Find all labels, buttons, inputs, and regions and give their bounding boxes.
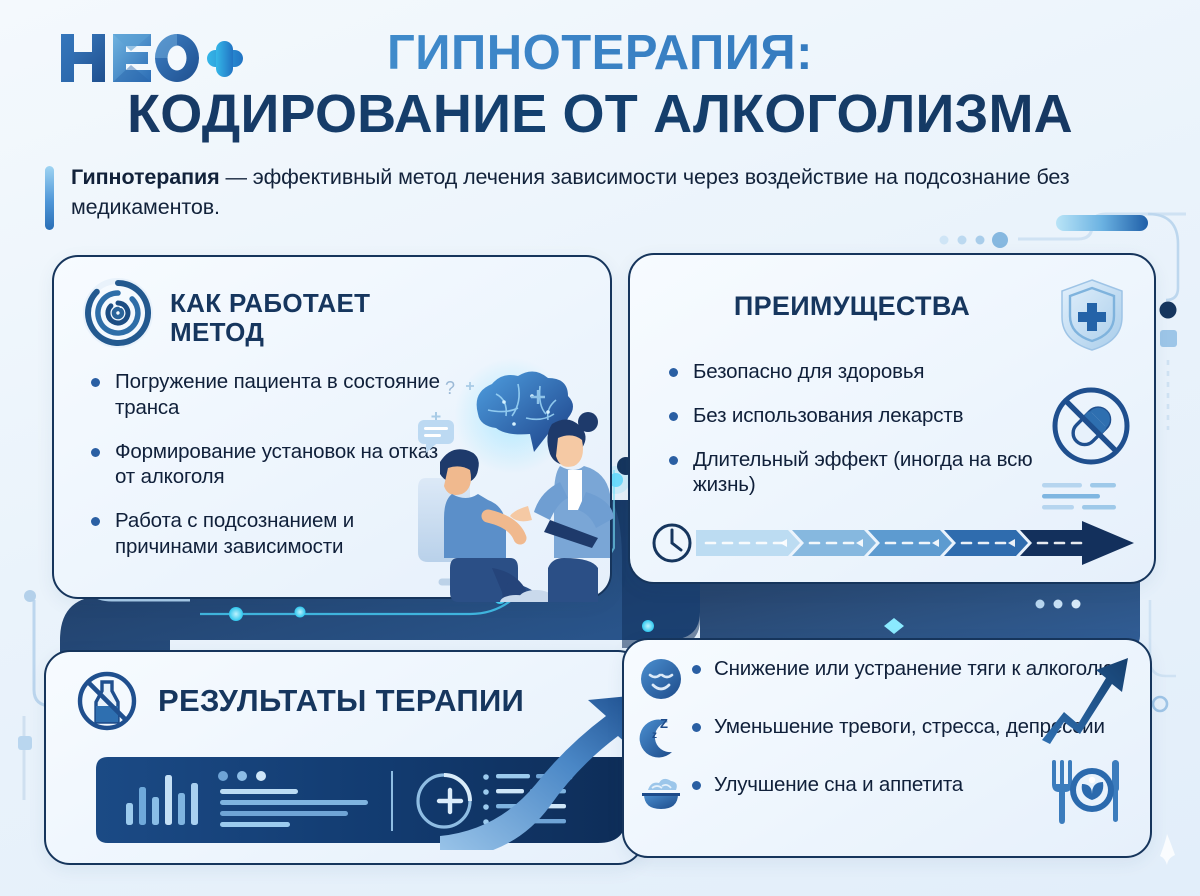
list-item: Безопасно для здоровья xyxy=(666,359,1036,385)
benefit-text: Улучшение сна и аппетита xyxy=(692,770,963,798)
growth-arrow-icon xyxy=(1040,654,1132,746)
food-bowl-icon xyxy=(638,772,684,818)
sleep-moon-icon: Z z xyxy=(638,714,684,760)
page-title: ГИПНОТЕРАПИЯ: КОДИРОВАНИЕ ОТ АЛКОГОЛИЗМА xyxy=(0,28,1200,144)
card-advantages: ПРЕИМУЩЕСТВА Безопасно для здоровья Без … xyxy=(628,253,1156,584)
method-title: КАК РАБОТАЕТ МЕТОД xyxy=(170,289,420,347)
advantages-bullet-list: Безопасно для здоровья Без использования… xyxy=(666,359,1036,516)
therapy-session-illustration: ? xyxy=(400,352,650,602)
spiral-icon xyxy=(82,277,154,349)
no-alcohol-icon xyxy=(76,670,138,732)
healthy-plate-icon xyxy=(1042,752,1128,826)
lede-strong: Гипнотерапия xyxy=(71,165,220,189)
lede-paragraph: Гипнотерапия — эффективный метод лечения… xyxy=(45,163,1125,230)
list-item: Длительный эффект (иногда на всю жизнь) xyxy=(666,447,1036,499)
text-lines-decor-icon xyxy=(1042,483,1128,517)
clock-icon xyxy=(654,525,690,561)
list-item: Без использования лекарств xyxy=(666,403,1036,429)
lede-rest: — эффективный метод лечения зависимости … xyxy=(71,165,1070,219)
header: ГИПНОТЕРАПИЯ: КОДИРОВАНИЕ ОТ АЛКОГОЛИЗМА… xyxy=(0,0,1200,250)
svg-text:Z: Z xyxy=(660,716,668,731)
title-line-2: КОДИРОВАНИЕ ОТ АЛКОГОЛИЗМА xyxy=(0,84,1200,144)
accent-bar xyxy=(45,166,54,230)
svg-text:?: ? xyxy=(445,378,455,398)
advantages-title: ПРЕИМУЩЕСТВА xyxy=(630,291,1074,321)
card-benefits: Снижение или устранение тяги к алкоголю … xyxy=(622,638,1152,858)
svg-text:z: z xyxy=(652,730,657,741)
method-header: КАК РАБОТАЕТ МЕТОД xyxy=(82,277,420,349)
timeline-arrow xyxy=(650,520,1138,566)
shield-plus-icon xyxy=(1058,277,1126,353)
lede-text: Гипнотерапия — эффективный метод лечения… xyxy=(71,163,1125,230)
no-pills-icon xyxy=(1050,385,1132,467)
calm-face-icon xyxy=(638,656,684,702)
title-line-1: ГИПНОТЕРАПИЯ: xyxy=(0,28,1200,80)
